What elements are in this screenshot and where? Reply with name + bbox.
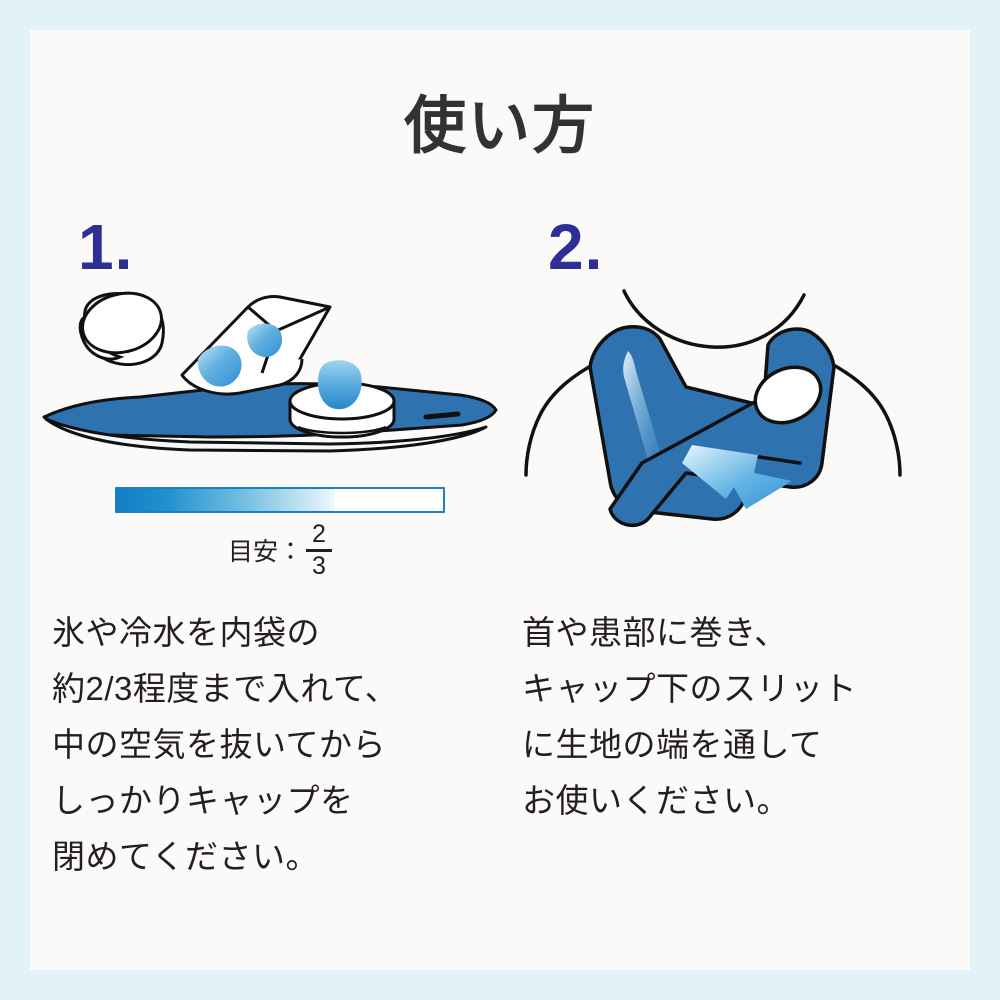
fill-gauge-bar xyxy=(115,487,445,513)
page-title: 使い方 xyxy=(30,96,970,158)
step-2-description: 首や患部に巻き、 キャップ下のスリット に生地の端を通して お使いください。 xyxy=(522,605,962,829)
towel-flat-shape xyxy=(44,384,496,451)
step-2-line-2: キャップ下のスリット xyxy=(522,661,962,717)
step-1-line-5: 閉めてください。 xyxy=(52,829,492,885)
step-1: 1. xyxy=(30,215,500,955)
content-panel: 使い方 1. xyxy=(30,30,970,970)
steps-container: 1. xyxy=(30,215,970,955)
step-2: 2. xyxy=(500,215,970,955)
fraction-denominator: 3 xyxy=(312,554,326,579)
step-2-line-1: 首や患部に巻き、 xyxy=(522,605,962,661)
ice-tray-shape xyxy=(182,296,330,394)
fill-gauge-level xyxy=(117,489,334,511)
fill-gauge-label: 目安： xyxy=(228,532,303,568)
fill-gauge-fraction: 2 3 xyxy=(306,522,332,579)
wrap-towel-around-neck-illustration xyxy=(500,267,970,567)
step-1-line-2: 約2/3程度まで入れて、 xyxy=(52,661,492,717)
step-2-line-4: お使いください。 xyxy=(522,773,962,829)
step-2-figure xyxy=(500,267,970,567)
cap-shape xyxy=(76,285,168,364)
fraction-numerator: 2 xyxy=(312,522,326,547)
step-1-line-3: 中の空気を抜いてから xyxy=(52,717,492,773)
step-1-line-4: しっかりキャップを xyxy=(52,773,492,829)
fill-gauge-caption: 目安： 2 3 xyxy=(115,521,445,578)
step-1-description: 氷や冷水を内袋の 約2/3程度まで入れて、 中の空気を抜いてから しっかりキャッ… xyxy=(52,605,492,885)
step-1-line-1: 氷や冷水を内袋の xyxy=(52,605,492,661)
step-2-line-3: に生地の端を通して xyxy=(522,717,962,773)
poster-root: 使い方 1. xyxy=(0,0,1000,1000)
